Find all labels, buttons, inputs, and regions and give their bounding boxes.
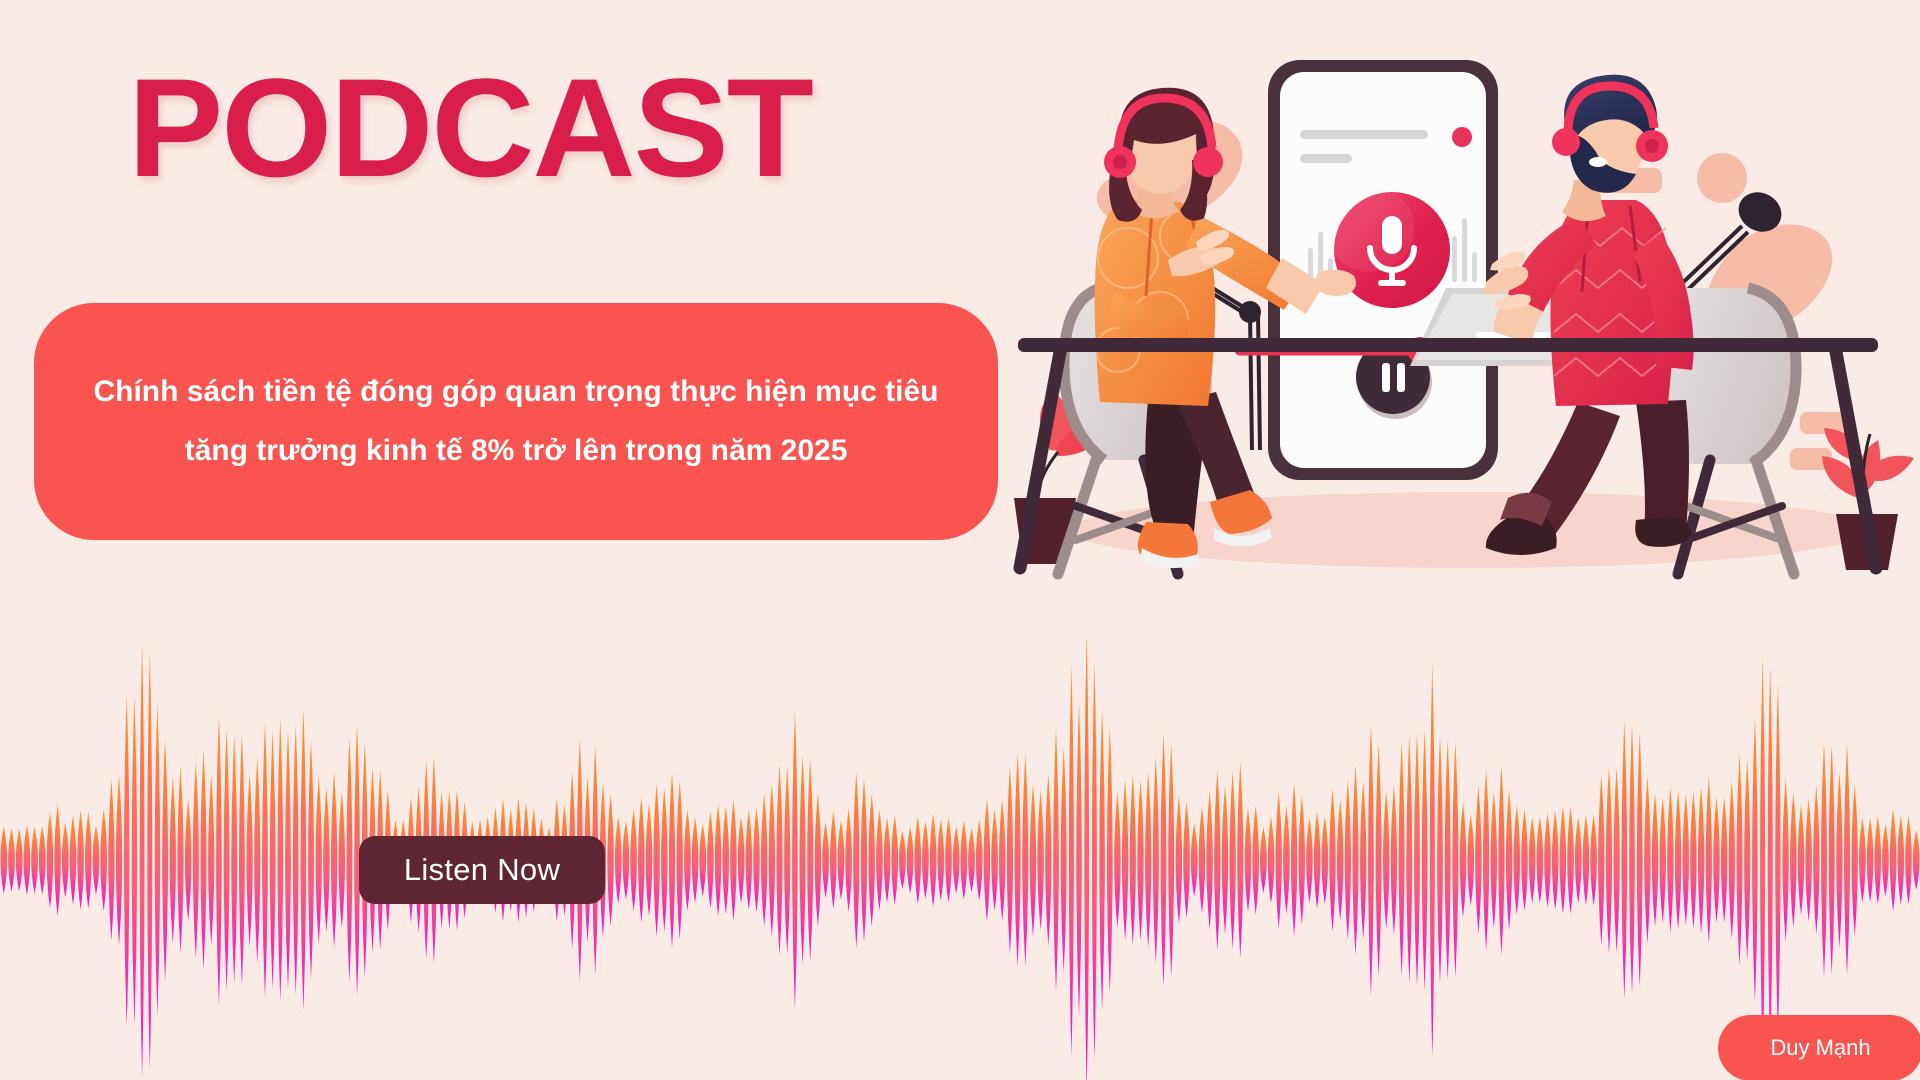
mic-head-right: [1732, 185, 1789, 239]
subtitle-line-2: tăng trưởng kinh tế 8% trở lên trong năm…: [185, 422, 848, 481]
author-badge[interactable]: Duy Mạnh: [1718, 1015, 1920, 1080]
boom-joint-left: [1239, 301, 1261, 323]
placeholder-bar-long: [1300, 130, 1428, 139]
phone-mockup: [1268, 60, 1498, 480]
subtitle-line-1: Chính sách tiền tệ đóng góp quan trọng t…: [93, 363, 938, 422]
podcast-poster: PODCAST Chính sách tiền tệ đóng góp quan…: [0, 0, 1920, 1080]
podcast-illustration: [1000, 20, 1920, 680]
subtitle-banner: Chính sách tiền tệ đóng góp quan trọng t…: [34, 303, 998, 540]
person-right-male-host: [1484, 75, 1694, 555]
audio-waveform: [0, 640, 1920, 1080]
record-dot-icon: [1452, 127, 1472, 147]
listen-now-button[interactable]: Listen Now: [359, 836, 605, 904]
page-title: PODCAST: [128, 58, 812, 198]
placeholder-bar-short: [1300, 154, 1352, 163]
